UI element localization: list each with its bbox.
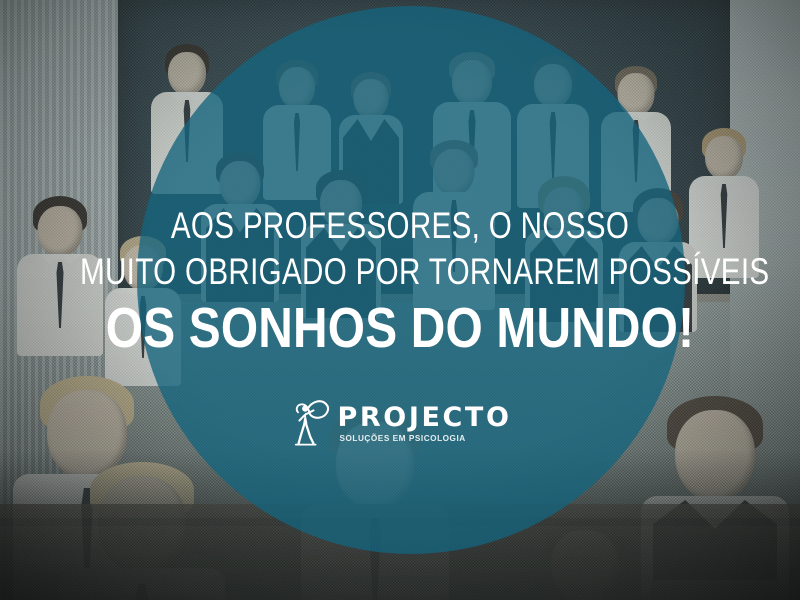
poster-canvas: AOS PROFESSORES, O NOSSO MUITO OBRIGADO …	[0, 0, 800, 600]
projecto-logo: PROJECTO SOLUÇÕES EM PSICOLOGIA	[0, 396, 800, 448]
headline-line-3: OS SONHOS DO MUNDO!	[64, 297, 736, 359]
logo-tagline: SOLUÇÕES EM PSICOLOGIA	[339, 433, 465, 445]
logo-wordmark: PROJECTO	[337, 404, 511, 431]
headline-line-2: MUITO OBRIGADO POR TORNAREM POSSÍVEIS	[80, 248, 720, 295]
projecto-figure-swirl-icon	[288, 396, 332, 448]
headline-line-1: AOS PROFESSORES, O NOSSO	[80, 204, 720, 248]
headline-block: AOS PROFESSORES, O NOSSO MUITO OBRIGADO …	[0, 204, 800, 359]
logo-text-block: PROJECTO SOLUÇÕES EM PSICOLOGIA	[337, 404, 511, 445]
